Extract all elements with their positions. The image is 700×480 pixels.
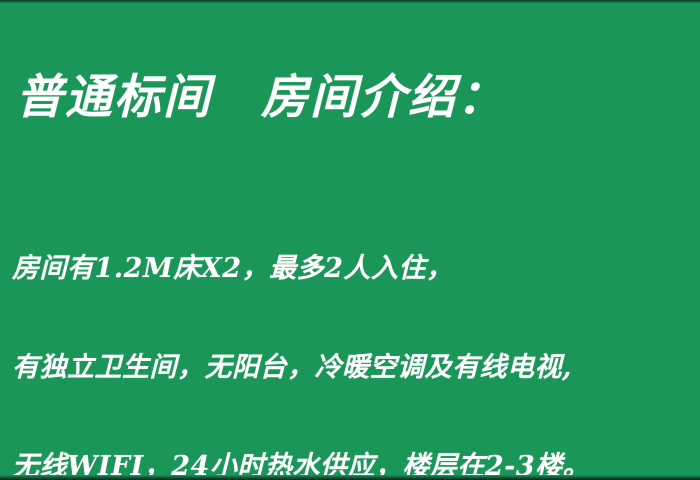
room-introduction-poster: 普通标间 房间介绍： 房间有1.2M床X2，最多2人入住， 有独立卫生间，无阳台… (0, 0, 700, 480)
description-line-1: 房间有1.2M床X2，最多2人入住， (12, 252, 696, 285)
room-description-block: 房间有1.2M床X2，最多2人入住， 有独立卫生间，无阳台，冷暖空调及有线电视,… (12, 186, 696, 480)
top-edge-divider (0, 0, 700, 3)
description-line-3: 无线WIFI，24小时热水供应，楼层在2-3楼。 (12, 450, 696, 480)
page-title: 普通标间 房间介绍： (16, 68, 506, 128)
description-line-2: 有独立卫生间，无阳台，冷暖空调及有线电视, (12, 351, 696, 384)
